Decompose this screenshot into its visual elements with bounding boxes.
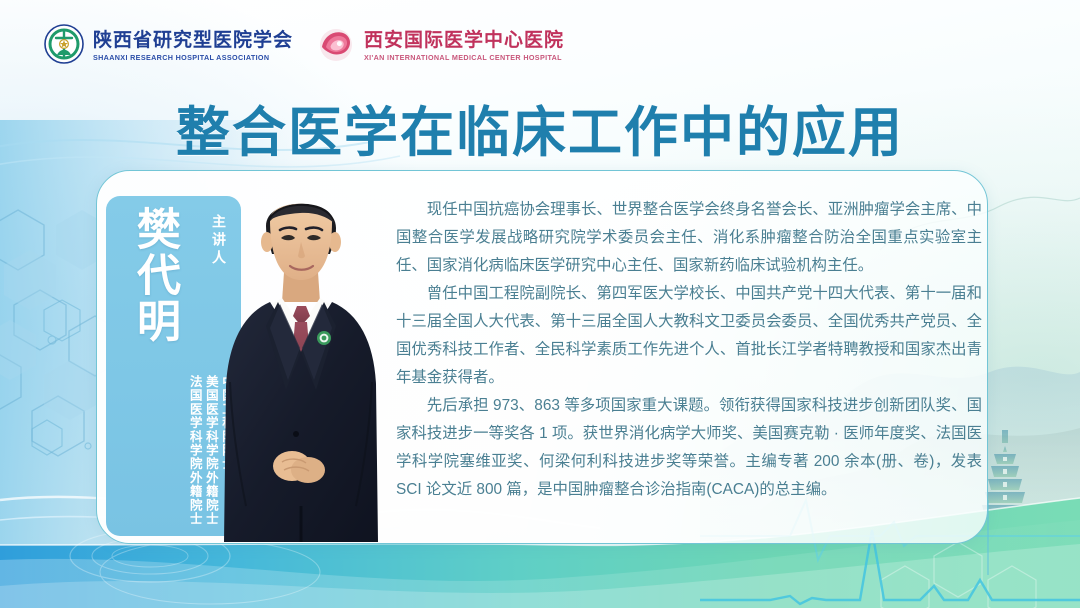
poster-canvas: 陕西省研究型医院学会 SHAANXI RESEARCH HOSPITAL ASS…	[0, 0, 1080, 608]
xian-medical-center-name-en: XI'AN INTERNATIONAL MEDICAL CENTER HOSPI…	[364, 54, 564, 61]
bio-paragraph-2: 曾任中国工程院副院长、第四军医大学校长、中国共产党十四大代表、第十一届和十三届全…	[396, 280, 982, 392]
shaanxi-association-name-cn: 陕西省研究型医院学会	[93, 31, 293, 50]
hexagon-accent-yellow	[952, 570, 984, 606]
xian-medical-center-name-cn: 西安国际医学中心医院	[364, 31, 564, 50]
xian-medical-center-wordmark: 西安国际医学中心医院 XI'AN INTERNATIONAL MEDICAL C…	[364, 31, 564, 61]
hexagons-footer	[881, 542, 1036, 608]
logo-xian-international-medical-center: 西安国际医学中心医院 XI'AN INTERNATIONAL MEDICAL C…	[317, 25, 564, 68]
xian-medical-center-emblem-icon	[317, 25, 355, 68]
footer-wave-highlight-2	[0, 544, 1080, 608]
logo-shaanxi-research-hospital-association: 陕西省研究型医院学会 SHAANXI RESEARCH HOSPITAL ASS…	[44, 24, 293, 69]
pagoda-windows	[1003, 457, 1007, 514]
bio-paragraph-1: 现任中国抗癌协会理事长、世界整合医学会终身名誉会长、亚洲肿瘤学会主席、中国整合医…	[396, 196, 982, 280]
shaanxi-association-name-en: SHAANXI RESEARCH HOSPITAL ASSOCIATION	[93, 54, 293, 61]
speaker-portrait-illustration	[196, 176, 406, 542]
hexagons-left-filled	[0, 210, 108, 420]
shaanxi-association-emblem-icon	[44, 24, 84, 69]
bio-paragraph-3: 先后承担 973、863 等多项国家重大课题。领衔获得国家科技进步创新团队奖、国…	[396, 392, 982, 504]
shaanxi-association-wordmark: 陕西省研究型医院学会 SHAANXI RESEARCH HOSPITAL ASS…	[93, 31, 293, 61]
header-logos: 陕西省研究型医院学会 SHAANXI RESEARCH HOSPITAL ASS…	[44, 24, 564, 69]
page-title: 整合医学在临床工作中的应用	[0, 88, 1080, 167]
hexagons-bottom-right	[842, 535, 1056, 608]
speaker-name: 樊代明	[132, 206, 176, 344]
speaker-bio: 现任中国抗癌协会理事长、世界整合医学会终身名誉会长、亚洲肿瘤学会主席、中国整合医…	[396, 196, 982, 504]
hexagon-outline-accent	[32, 300, 91, 455]
speaker-portrait	[196, 176, 406, 542]
